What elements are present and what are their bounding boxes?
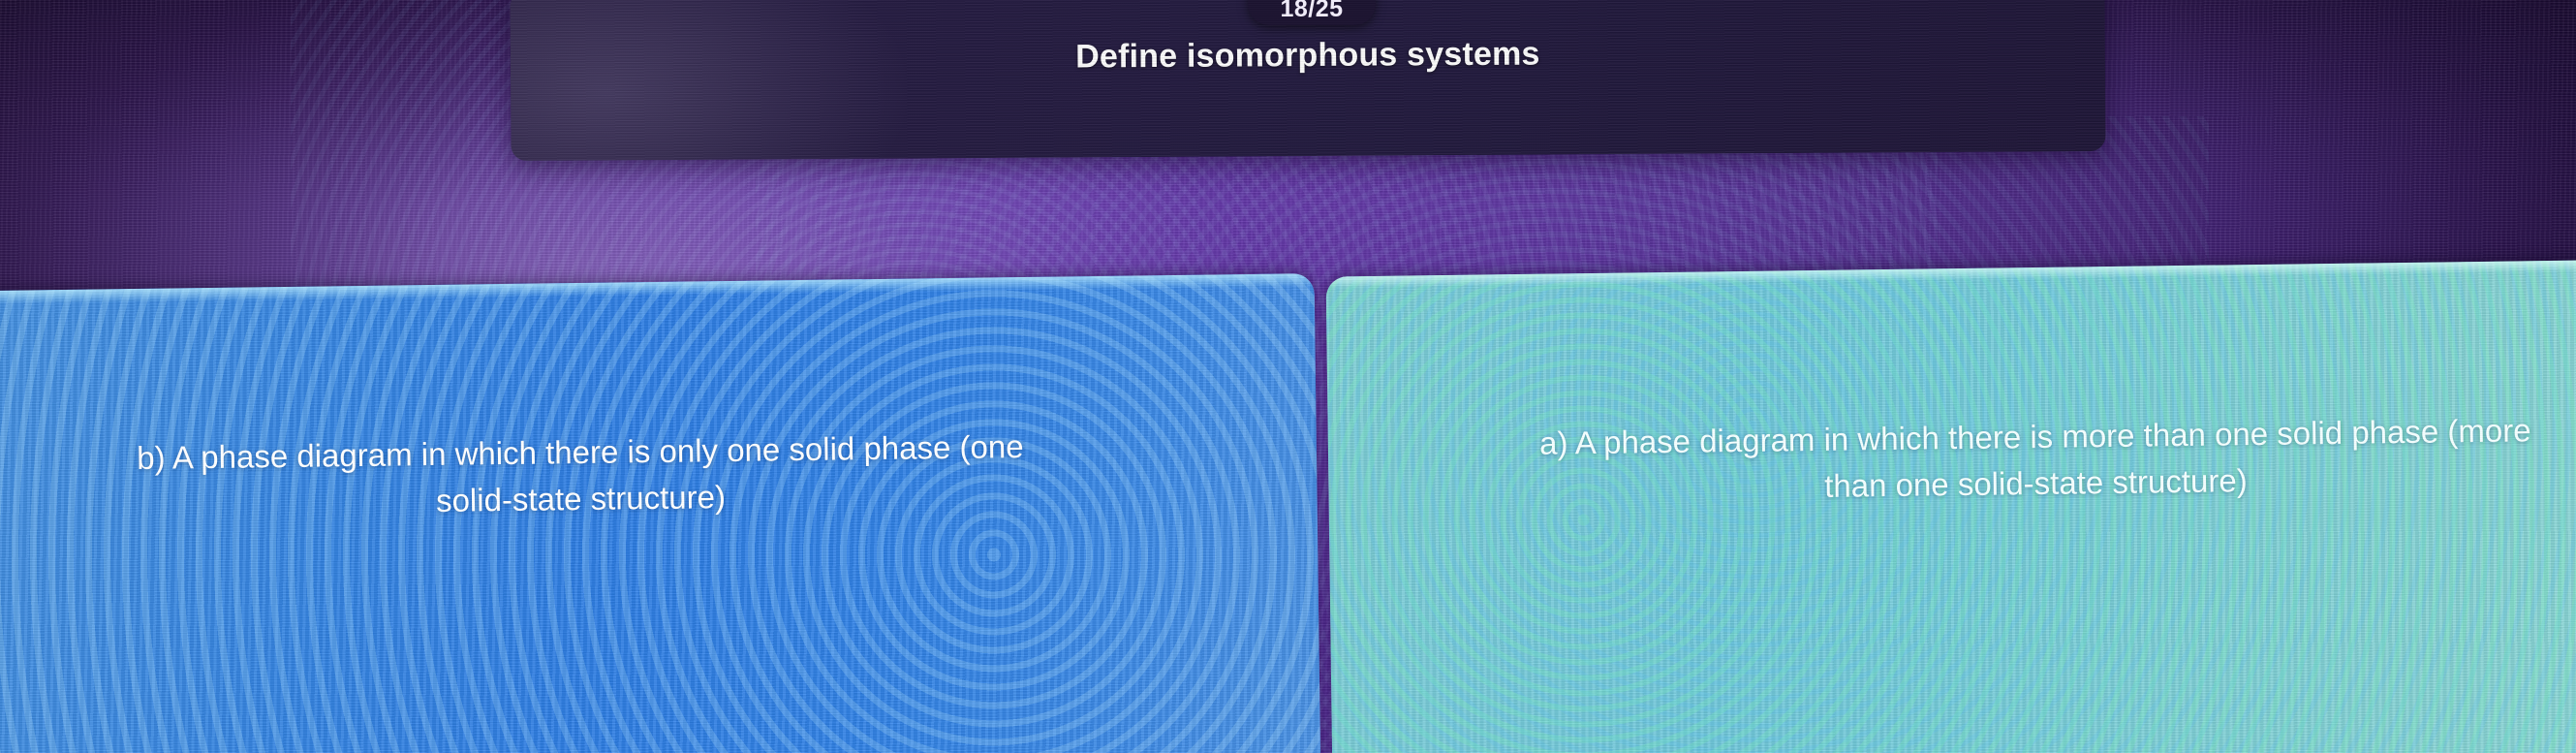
quiz-screen: 18/25 Define isomorphous systems b) A ph… (0, 0, 2576, 753)
answer-option-a-label: a) A phase diagram in which there is mor… (1498, 407, 2574, 514)
answer-option-a[interactable]: a) A phase diagram in which there is mor… (1326, 258, 2576, 753)
question-text: Define isomorphous systems (511, 32, 2105, 79)
answer-option-b-label: b) A phase diagram in which there is onl… (67, 423, 1095, 529)
progress-badge: 18/25 (1248, 0, 1376, 25)
progress-label: 18/25 (1280, 0, 1343, 23)
answer-option-b-top-glow (0, 273, 1315, 306)
answer-option-a-top-glow (1326, 258, 2576, 288)
answer-option-b[interactable]: b) A phase diagram in which there is onl… (0, 273, 1320, 753)
